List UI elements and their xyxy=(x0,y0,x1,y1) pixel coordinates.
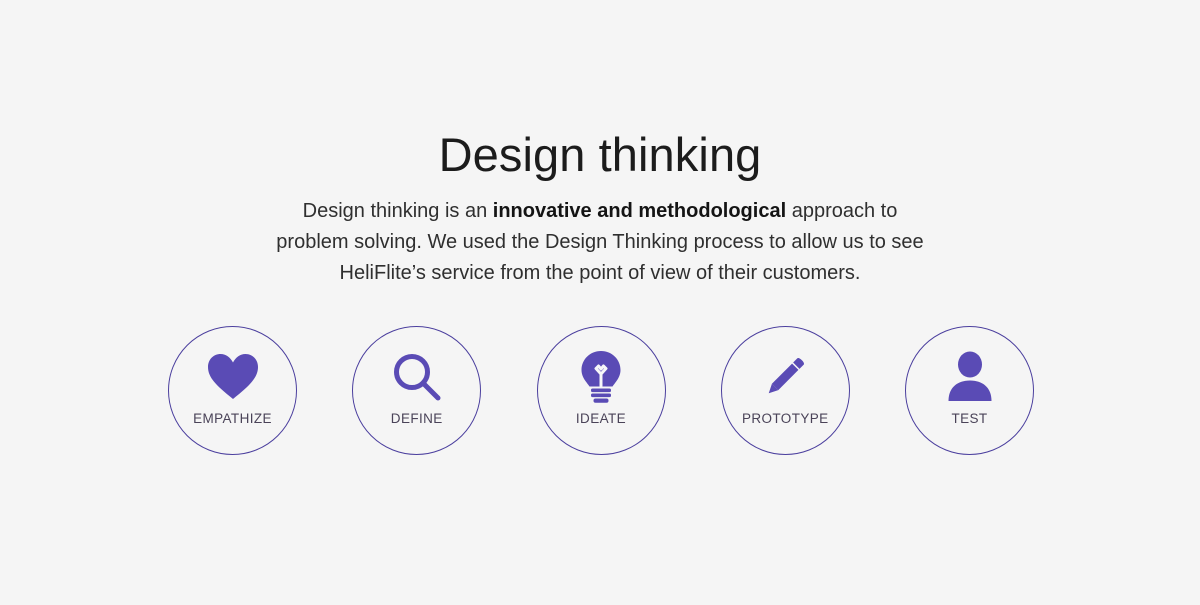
step-define[interactable]: DEFINE xyxy=(352,326,481,455)
process-steps-row: EMPATHIZE DEFINE xyxy=(168,326,1034,455)
intro-text-part-1: Design thinking is an xyxy=(303,200,493,222)
magnifier-icon xyxy=(392,349,442,405)
step-label-ideate: IDEATE xyxy=(576,411,626,426)
pencil-icon xyxy=(759,349,811,405)
intro-paragraph: Design thinking is an innovative and met… xyxy=(264,196,936,289)
step-label-define: DEFINE xyxy=(391,411,443,426)
intro-emphasis: innovative and methodological xyxy=(493,200,786,222)
step-label-test: TEST xyxy=(951,411,987,426)
person-icon xyxy=(944,349,996,405)
step-label-prototype: PROTOTYPE xyxy=(742,411,829,426)
page-title: Design thinking xyxy=(0,127,1200,183)
design-thinking-section: Design thinking Design thinking is an in… xyxy=(0,0,1200,605)
step-ideate: IDEATE xyxy=(537,326,666,455)
step-test[interactable]: TEST xyxy=(905,326,1034,455)
step-prototype[interactable]: PROTOTYPE xyxy=(721,326,850,455)
heart-icon xyxy=(207,349,259,405)
step-label-empathize: EMPATHIZE xyxy=(193,411,272,426)
step-empathize[interactable]: EMPATHIZE xyxy=(168,326,297,455)
lightbulb-icon xyxy=(579,349,623,405)
